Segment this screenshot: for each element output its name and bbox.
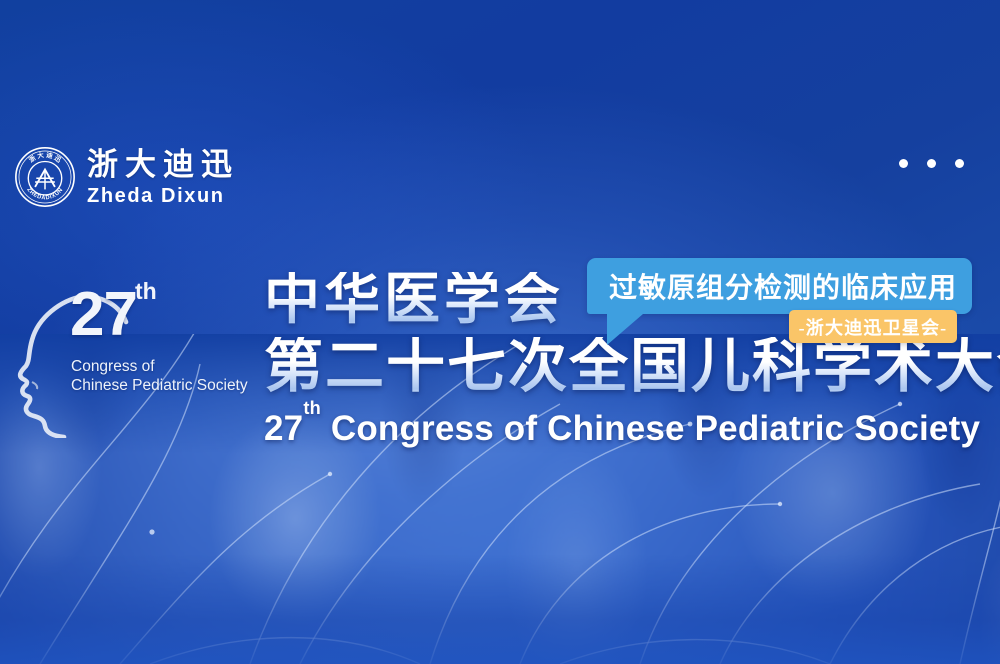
emblem-ordinal-number: 27 bbox=[70, 284, 137, 346]
svg-text:浙 大 迪 迅: 浙 大 迪 迅 bbox=[27, 150, 63, 165]
title-english-rest: Congress of Chinese Pediatric Society bbox=[321, 409, 980, 448]
globe-bottom-fade bbox=[0, 554, 1000, 664]
callout-bubble-tail bbox=[607, 314, 643, 345]
title-chinese-line-2: 第二十七次全国儿科学术大会 bbox=[264, 337, 1000, 396]
dot-3 bbox=[955, 159, 964, 168]
title-english: 27th Congress of Chinese Pediatric Socie… bbox=[264, 409, 1000, 449]
emblem-ordinal-suffix: th bbox=[135, 280, 157, 303]
congress-banner: 浙 大 迪 迅 ZHEDADIXUN 浙大迪迅 Zheda Dixun 27 bbox=[0, 0, 1000, 664]
satellite-session-pill-text: -浙大迪迅卫星会- bbox=[799, 314, 948, 340]
title-english-suffix: th bbox=[303, 398, 321, 418]
brand-name-cn: 浙大迪迅 bbox=[87, 149, 239, 180]
dot-2 bbox=[927, 159, 936, 168]
emblem-line-1: Congress of bbox=[71, 358, 155, 377]
callout-bubble-text: 过敏原组分检测的临床应用 bbox=[609, 258, 958, 314]
zhedadixun-seal-logo-icon: 浙 大 迪 迅 ZHEDADIXUN bbox=[14, 146, 76, 208]
congress-emblem: 27 th Congress of Chinese Pediatric Soci… bbox=[8, 278, 260, 438]
brand-logo[interactable]: 浙 大 迪 迅 ZHEDADIXUN 浙大迪迅 Zheda Dixun bbox=[14, 146, 239, 208]
title-english-number: 27 bbox=[264, 409, 303, 448]
brand-name-en: Zheda Dixun bbox=[87, 186, 239, 206]
emblem-line-2: Chinese Pediatric Society bbox=[71, 377, 248, 396]
three-dots-icon[interactable] bbox=[899, 159, 964, 168]
satellite-session-pill: -浙大迪迅卫星会- bbox=[789, 310, 957, 343]
dot-1 bbox=[899, 159, 908, 168]
callout-bubble: 过敏原组分检测的临床应用 bbox=[587, 258, 972, 314]
